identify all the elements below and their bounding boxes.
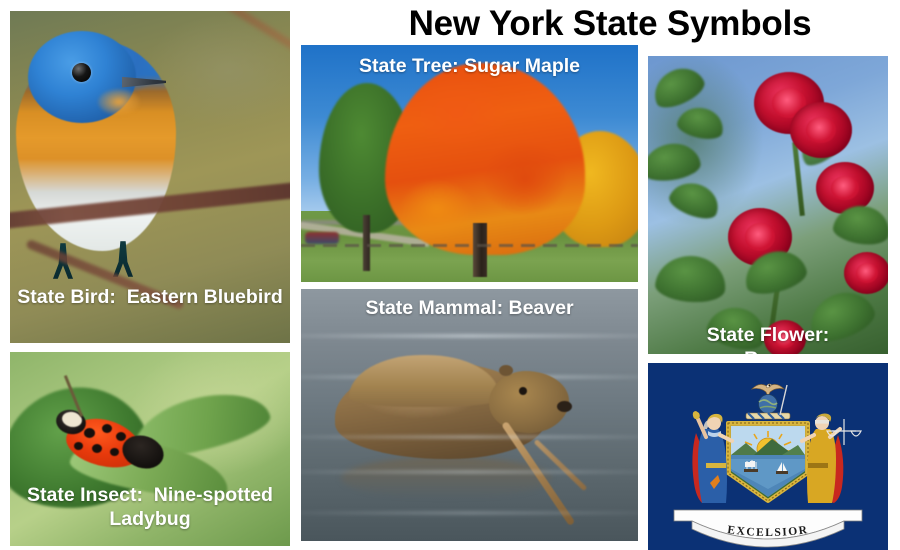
ladybug-spot bbox=[102, 424, 112, 433]
water-ripple bbox=[301, 435, 638, 439]
beaver-ear bbox=[499, 365, 513, 376]
globe-icon bbox=[759, 395, 778, 414]
panel-state-bird[interactable]: State Bird: Eastern Bluebird bbox=[10, 11, 290, 343]
rose-leaf bbox=[648, 140, 702, 184]
beaver-back-fur bbox=[349, 355, 499, 407]
water-ripple bbox=[301, 470, 638, 474]
bluebird-cheek bbox=[98, 89, 140, 115]
sugar-maple-trunk bbox=[473, 223, 487, 277]
panel-state-tree[interactable]: State Tree: Sugar Maple bbox=[301, 45, 638, 282]
parked-car bbox=[305, 232, 339, 244]
ladybug-spot bbox=[84, 428, 95, 438]
bluebird-eye bbox=[72, 63, 91, 82]
ladybug-spot bbox=[116, 432, 126, 441]
caption-state-insect: State Insect: Nine-spotted Ladybug bbox=[10, 484, 290, 532]
fence-line bbox=[301, 244, 638, 247]
beaver-reflection bbox=[341, 457, 551, 499]
panel-state-insect[interactable]: State Insect: Nine-spotted Ladybug bbox=[10, 352, 290, 546]
panel-state-mammal[interactable]: State Mammal: Beaver bbox=[301, 289, 638, 541]
beaver-eye bbox=[519, 387, 527, 395]
caption-state-mammal: State Mammal: Beaver bbox=[301, 297, 638, 321]
rose-leaf bbox=[648, 61, 709, 113]
ladybug-spot bbox=[92, 444, 102, 453]
rose-leaf bbox=[654, 252, 728, 305]
caption-state-flower: State Flower: Rose bbox=[648, 324, 888, 354]
page-title: New York State Symbols bbox=[345, 2, 875, 46]
red-rose-bloom bbox=[844, 252, 888, 294]
justice-blindfold bbox=[815, 420, 829, 424]
liberty-sash bbox=[706, 463, 726, 468]
beaver-nose bbox=[557, 401, 572, 412]
justice-sash bbox=[808, 463, 828, 468]
ladybug-spot bbox=[110, 448, 119, 456]
decorative-branch-icon bbox=[208, 11, 290, 66]
red-rose-bloom bbox=[790, 102, 852, 158]
poster-canvas: New York State Symbols State Bird: Easte… bbox=[0, 0, 900, 550]
new-york-state-flag: EXCELSIOR bbox=[648, 363, 888, 550]
rose-leaf bbox=[666, 176, 724, 224]
water-ripple bbox=[301, 511, 638, 515]
caption-state-tree: State Tree: Sugar Maple bbox=[301, 55, 638, 79]
beaver-head bbox=[489, 371, 569, 433]
rose-leaf bbox=[675, 103, 727, 143]
ladybug-spot bbox=[74, 442, 83, 450]
water-ripple bbox=[301, 334, 638, 338]
panel-state-flag[interactable]: EXCELSIOR bbox=[648, 363, 888, 550]
green-tree-trunk bbox=[363, 215, 370, 271]
panel-state-flower[interactable]: State Flower: Rose bbox=[648, 56, 888, 354]
caption-state-bird: State Bird: Eastern Bluebird bbox=[10, 286, 290, 310]
